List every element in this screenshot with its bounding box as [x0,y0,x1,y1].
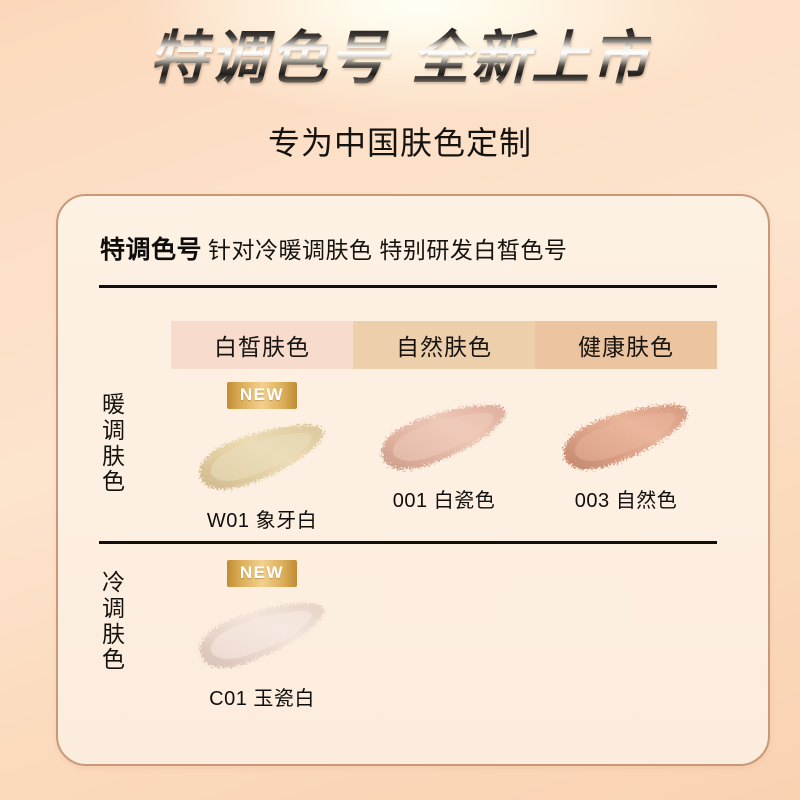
swatch-003 [550,393,702,479]
swatch-001 [368,393,520,479]
shade-label-w01: W01 象牙白 [207,504,317,533]
new-badge-c01: NEW [227,560,297,587]
column-header-fair-label: 白皙肤色 [214,328,310,362]
shade-label-c01: C01 玉瓷白 [209,682,315,711]
hero-title: 特调色号 全新上市 [149,26,651,91]
column-header-row: 白皙肤色 自然肤色 健康肤色 [171,321,717,369]
row-cool-cells: NEW [171,560,717,710]
shade-cell-empty-2 [535,560,717,710]
shade-cell-c01[interactable]: NEW [171,560,353,710]
card-header-strong: 特调色号 [100,236,202,264]
row-label-warm: 暖调肤色 [101,392,127,495]
new-badge-w01: NEW [227,382,297,409]
hero-title-wrap: 特调色号 全新上市 [0,26,800,91]
row-divider [99,541,717,544]
shade-label-003: 003 自然色 [575,484,677,513]
row-label-cool: 冷调肤色 [101,570,127,673]
column-header-fair: 白皙肤色 [171,321,353,369]
column-header-healthy-label: 健康肤色 [578,328,674,362]
shade-chart-card: 特调色号针对冷暖调肤色 特别研发白皙色号 白皙肤色 自然肤色 健康肤色 暖调肤色… [56,194,770,766]
column-header-healthy: 健康肤色 [535,321,717,369]
column-header-natural-label: 自然肤色 [396,328,492,362]
swatch-w01 [186,413,338,499]
shade-cell-w01[interactable]: NEW [171,382,353,532]
card-header: 特调色号针对冷暖调肤色 特别研发白皙色号 [100,230,720,266]
promo-page: 特调色号 全新上市 专为中国肤色定制 特调色号针对冷暖调肤色 特别研发白皙色号 … [0,0,800,800]
shade-label-001: 001 白瓷色 [393,484,495,513]
column-header-natural: 自然肤色 [353,321,535,369]
shade-cell-empty-1 [353,560,535,710]
swatch-c01 [186,591,338,677]
header-divider [99,285,717,288]
hero-subtitle: 专为中国肤色定制 [0,118,800,164]
shade-cell-001[interactable]: 001 白瓷色 [353,382,535,532]
shade-cell-003[interactable]: 003 自然色 [535,382,717,532]
card-header-rest: 针对冷暖调肤色 特别研发白皙色号 [208,237,567,263]
row-warm-cells: NEW [171,382,717,532]
